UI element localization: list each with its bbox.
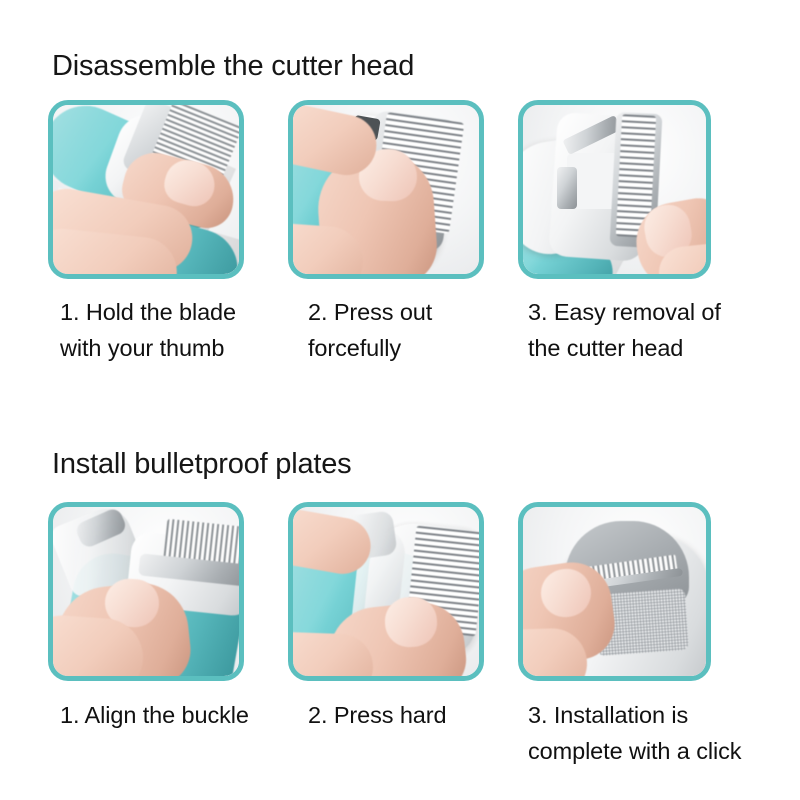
step-caption-disassemble-1: 1. Hold the blade with your thumb (60, 294, 265, 366)
step-caption-install-2: 2. Press hard (308, 697, 513, 733)
step-caption-install-3: 3. Installation is complete with a click (528, 697, 743, 769)
photo-installation-complete (523, 507, 706, 676)
step-image-disassemble-1 (48, 100, 244, 279)
step-image-disassemble-3 (518, 100, 711, 279)
photo-head-removed (523, 105, 706, 274)
photo-press-hard (293, 507, 479, 676)
clipped-text: - (60, 400, 265, 410)
step-image-install-2 (288, 502, 484, 681)
step-image-install-1 (48, 502, 244, 681)
step-caption-install-1: 1. Align the buckle (60, 697, 265, 733)
instruction-sheet: Disassemble the cutter head (0, 0, 800, 800)
step-caption-disassemble-2: 2. Press out forcefully (308, 294, 513, 366)
step-image-disassemble-2 (288, 100, 484, 279)
section-heading-install: Install bulletproof plates (52, 448, 351, 481)
step-caption-clipped-fragment: - (60, 400, 265, 410)
section-heading-disassemble: Disassemble the cutter head (52, 50, 414, 83)
step-caption-disassemble-3: 3. Easy removal of the cutter head (528, 294, 743, 366)
spring-bracket (557, 167, 577, 209)
photo-align-buckle (53, 507, 239, 676)
photo-press-out (293, 105, 479, 274)
photo-hold-blade (53, 105, 239, 274)
step-image-install-3 (518, 502, 711, 681)
